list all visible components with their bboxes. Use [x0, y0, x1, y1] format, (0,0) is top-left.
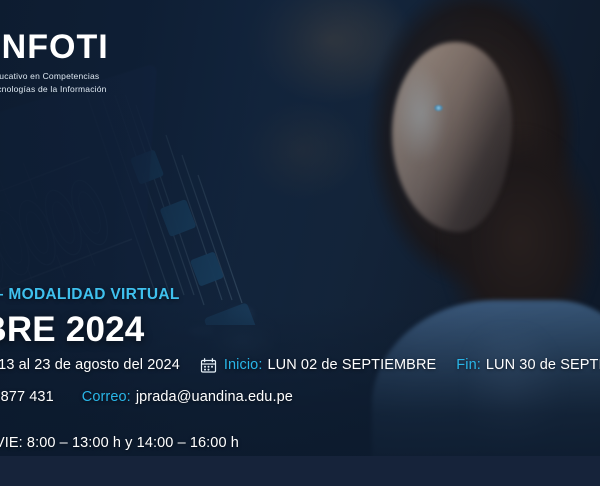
calendar-icon [200, 357, 217, 374]
enrollment-dates-segment: Del 13 al 23 de agosto del 2024 [0, 357, 180, 373]
info-rows: Del 13 al 23 de agosto del 2024 [0, 352, 600, 410]
info-row-contact: 920 877 431 Correo: jprada@uandina.edu.p… [0, 384, 600, 410]
enrollment-dates-text: Del 13 al 23 de agosto del 2024 [0, 357, 180, 373]
start-date-label: Inicio: [224, 357, 263, 373]
headline-block: SIVO – MODALIDAD VIRTUAL MBRE 2024 [0, 286, 512, 350]
email-label: Correo: [82, 389, 131, 405]
start-date-segment: Inicio: LUN 02 de SEPTIEMBRE [200, 357, 436, 374]
email-value[interactable]: jprada@uandina.edu.pe [136, 389, 293, 405]
office-hours-row: N a VIE: 8:00 – 13:00 h y 14:00 – 16:00 … [0, 434, 239, 452]
logo-wordmark: ENFOTI [0, 30, 258, 64]
headline-title: MBRE 2024 [0, 310, 512, 350]
end-date-value: LUN 30 de SEPTIEMBRE [486, 357, 600, 373]
end-date-label: Fin: [456, 357, 481, 373]
promotional-poster: ENFOTI o Educativo en Competencias y Tec… [0, 0, 600, 486]
start-date-value: LUN 02 de SEPTIEMBRE [267, 357, 436, 373]
office-hours-text: N a VIE: 8:00 – 13:00 h y 14:00 – 16:00 … [0, 435, 239, 451]
logo-tagline-line2: y Tecnologías de la Información [0, 83, 258, 95]
logo-tagline-line1: o Educativo en Competencias [0, 70, 258, 82]
logo-block: ENFOTI o Educativo en Competencias y Tec… [0, 30, 258, 96]
email-segment: Correo: jprada@uandina.edu.pe [82, 389, 293, 405]
info-row-dates: Del 13 al 23 de agosto del 2024 [0, 352, 600, 378]
phone-number: 920 877 431 [0, 389, 54, 405]
end-date-segment: Fin: LUN 30 de SEPTIEMBRE [456, 357, 600, 373]
headline-kicker: SIVO – MODALIDAD VIRTUAL [0, 286, 512, 304]
phone-segment: 920 877 431 [0, 389, 54, 405]
poster-content: ENFOTI o Educativo en Competencias y Tec… [0, 0, 600, 486]
